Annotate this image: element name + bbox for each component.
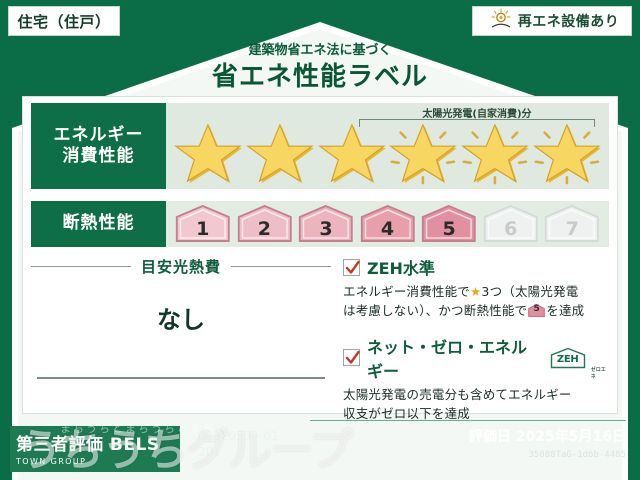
insulation-level-value: 3 bbox=[297, 204, 355, 244]
zeh-logo-subtext: ゼロエネ bbox=[591, 366, 609, 380]
insulation-level-6: 6 bbox=[482, 204, 540, 244]
insulation-level-value: 4 bbox=[359, 204, 417, 244]
zeh-desc-part3: は考慮しない）、かつ断熱性能で bbox=[343, 303, 527, 318]
net-zero-checkbox[interactable] bbox=[343, 349, 360, 366]
evaluation-date: 評価日 2025年5月16日 bbox=[469, 426, 626, 446]
renewable-equipment-label: 再エネ設備あり bbox=[518, 11, 620, 31]
zeh-standard-checkbox[interactable] bbox=[343, 259, 360, 276]
insulation-level-7: 7 bbox=[543, 204, 601, 244]
housing-type-chip: 住宅（住戸） bbox=[8, 6, 120, 36]
net-zero-title: ネット・ゼロ・エネルギー bbox=[367, 334, 543, 382]
insulation-performance-row: 断熱性能 1 2 3 4 bbox=[31, 201, 609, 247]
insulation-level-1: 1 bbox=[174, 204, 232, 244]
bels-number-line1: 0282033 - 01 bbox=[198, 428, 279, 444]
utility-cost-divider bbox=[37, 377, 325, 379]
energy-label-line1: エネルギー bbox=[54, 125, 144, 146]
housing-type-label: 住宅（住戸） bbox=[17, 11, 110, 32]
star-icon bbox=[316, 120, 388, 186]
insulation-level-3: 3 bbox=[297, 204, 355, 244]
claims-pane: ZEH水準 エネルギー消費性能で★3つ（太陽光発電 は考慮しない）、かつ断熱性能… bbox=[343, 255, 609, 407]
insulation-level-value: 7 bbox=[543, 204, 601, 244]
solar-portion-caption: 太陽光発電(自家消費)分 bbox=[357, 105, 597, 120]
insulation-level-2: 2 bbox=[236, 204, 294, 244]
star-icon-sparkle bbox=[387, 120, 459, 186]
bels-badge-subtitle: TOWN GROUP bbox=[16, 457, 174, 466]
star-icon-sparkle bbox=[459, 120, 531, 186]
energy-performance-row: エネルギー 消費性能 太陽光発電(自家消費)分 bbox=[31, 103, 609, 189]
zeh-logo-icon: ZEH bbox=[550, 347, 586, 369]
insulation-label-text: 断熱性能 bbox=[63, 213, 135, 234]
label-card: エネルギー 消費性能 太陽光発電(自家消費)分 bbox=[22, 96, 618, 414]
star-icon-sparkle bbox=[531, 120, 603, 186]
utility-cost-value: なし bbox=[31, 289, 331, 345]
insulation-performance-label: 断熱性能 bbox=[31, 201, 166, 247]
zeh-desc-part4: を達成 bbox=[546, 303, 584, 318]
zeh-standard-title: ZEH水準 bbox=[367, 255, 435, 279]
insulation-level-value: 5 bbox=[420, 204, 478, 244]
lower-section: 目安光熱費 なし ZEH水準 エネルギー消費性能で★3つ（太 bbox=[31, 255, 609, 407]
footer-divider bbox=[310, 420, 626, 421]
renewable-equipment-chip: 再エネ設備あり bbox=[472, 6, 632, 36]
inline-star-icon: ★ bbox=[470, 284, 481, 299]
insulation-performance-body: 1 2 3 4 5 6 7 bbox=[166, 201, 609, 247]
page-title: 省エネ性能ラベル bbox=[0, 56, 640, 93]
utility-cost-heading: 目安光熱費 bbox=[31, 255, 331, 277]
insulation-level-scale: 1 2 3 4 5 6 7 bbox=[174, 204, 601, 244]
insulation-level-5: 5 bbox=[420, 204, 478, 244]
energy-label-root: 住宅（住戸） 再エネ設備あり 建築物省エネ法に基づく 省エネ性能ラベル bbox=[0, 0, 640, 480]
rule-left bbox=[31, 266, 131, 267]
inline-house-value: 5 bbox=[528, 304, 545, 317]
zeh-desc-part2: 3つ（太陽光発電 bbox=[481, 284, 578, 299]
zeh-standard-claim-header: ZEH水準 bbox=[343, 255, 609, 279]
evaluation-block: 評価日 2025年5月16日 35088TaG-1d6b-4485 bbox=[469, 426, 626, 460]
utility-cost-pane: 目安光熱費 なし bbox=[31, 255, 331, 407]
zeh-logo-text: ZEH bbox=[550, 347, 586, 369]
insulation-level-value: 1 bbox=[174, 204, 232, 244]
evaluation-date-value: 2025年5月16日 bbox=[516, 429, 626, 445]
energy-label-line2: 消費性能 bbox=[63, 146, 135, 167]
evaluation-id: 35088TaG-1d6b-4485 bbox=[469, 450, 626, 460]
insulation-level-value: 6 bbox=[482, 204, 540, 244]
insulation-level-4: 4 bbox=[359, 204, 417, 244]
footer: 第三者評価 BELS TOWN GROUP 0282033 - 01 201 評… bbox=[0, 414, 640, 480]
evaluation-date-label: 評価日 bbox=[469, 429, 511, 445]
net-zero-claim-header: ネット・ゼロ・エネルギー ZEH ゼロエネ bbox=[343, 334, 609, 382]
star-rating bbox=[172, 119, 603, 187]
bels-number: 0282033 - 01 201 bbox=[198, 428, 279, 460]
energy-performance-body: 太陽光発電(自家消費)分 bbox=[166, 103, 609, 189]
sun-icon bbox=[489, 8, 513, 34]
zeh-desc-part1: エネルギー消費性能で bbox=[343, 284, 470, 299]
net-zero-desc-line1: 太陽光発電の売電分も含めてエネルギー bbox=[343, 387, 572, 402]
utility-cost-heading-text: 目安光熱費 bbox=[131, 256, 231, 277]
bels-badge-title: 第三者評価 BELS bbox=[16, 430, 174, 455]
inline-house-icon: 5 bbox=[528, 304, 545, 317]
bels-badge: 第三者評価 BELS TOWN GROUP bbox=[10, 426, 180, 472]
rule-right bbox=[231, 266, 331, 267]
energy-performance-label: エネルギー 消費性能 bbox=[31, 103, 166, 189]
bels-number-line2: 201 bbox=[198, 444, 279, 460]
star-icon bbox=[172, 120, 244, 186]
zeh-standard-description: エネルギー消費性能で★3つ（太陽光発電 は考慮しない）、かつ断熱性能で 5 を達… bbox=[343, 282, 609, 321]
star-icon bbox=[244, 120, 316, 186]
insulation-level-value: 2 bbox=[236, 204, 294, 244]
